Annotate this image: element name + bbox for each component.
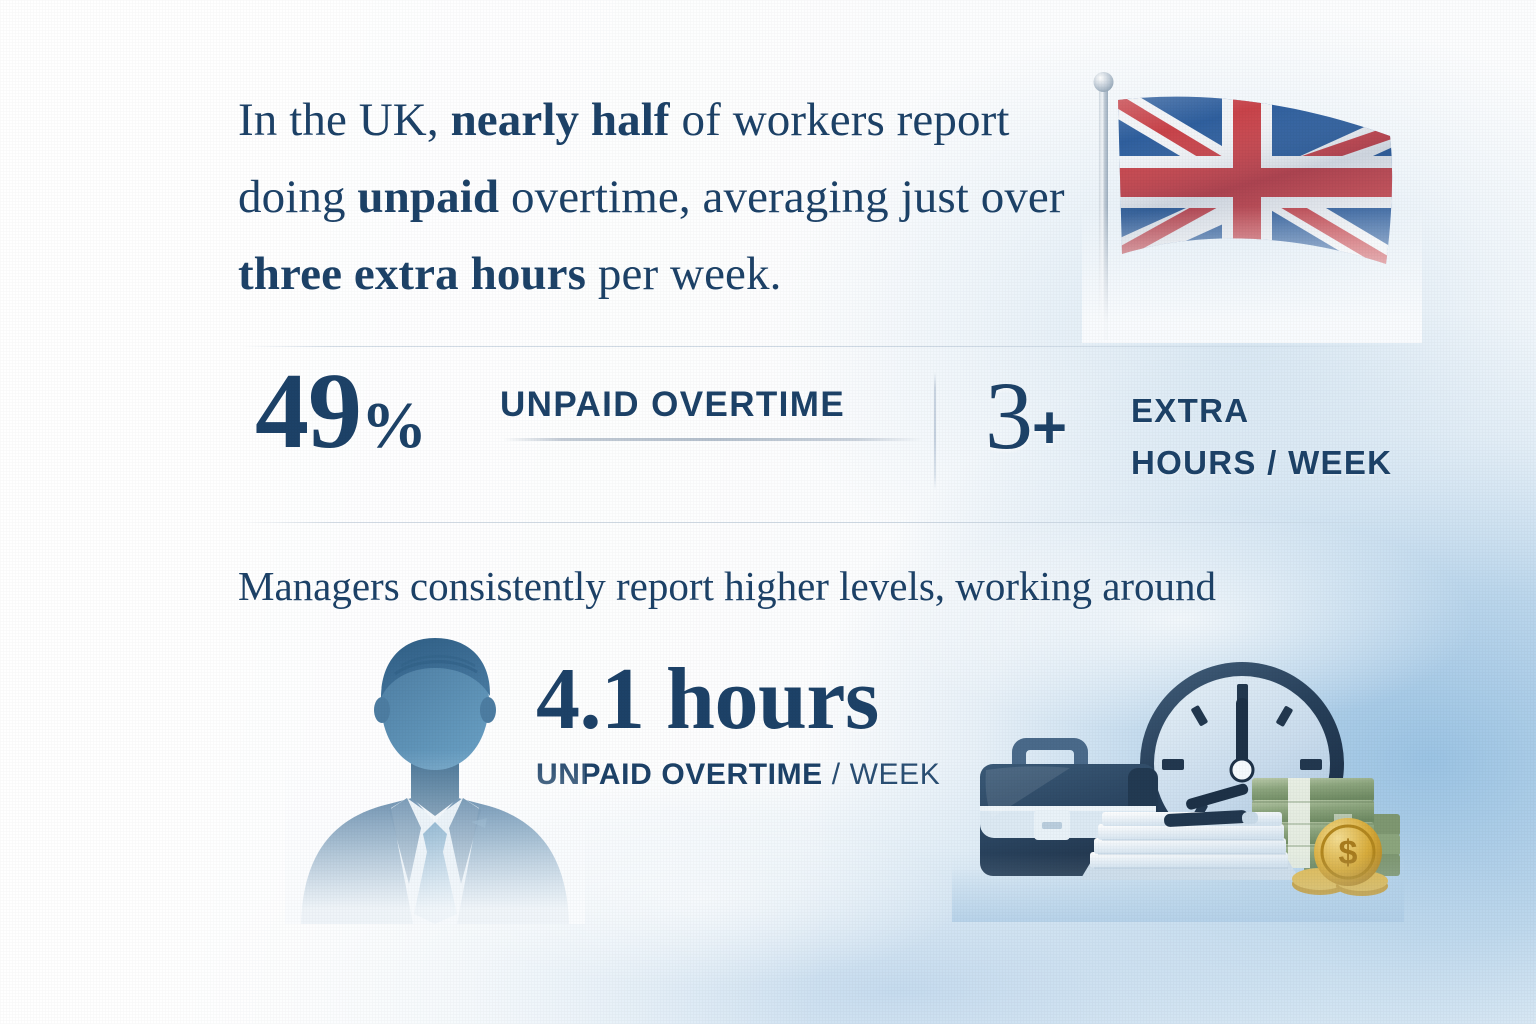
stat-left-label: UNPAID OVERTIME (500, 385, 845, 425)
headline-emphasis: three extra hours (238, 248, 586, 300)
stat-right-unit: + (1032, 394, 1066, 461)
big-stat-sublabel-light: / WEEK (823, 758, 941, 791)
stat-right-label-line2: HOURS / WEEK (1131, 437, 1392, 489)
infographic-canvas: In the UK, nearly half of workers report… (0, 0, 1536, 1024)
uk-flag-icon (1082, 58, 1422, 343)
stat-left-value: 49% (255, 358, 426, 480)
stat-right-label: EXTRA HOURS / WEEK (1131, 385, 1392, 489)
stat-unpaid-overtime: 49% UNPAID OVERTIME (255, 360, 915, 500)
stats-band: 49% UNPAID OVERTIME 3+ EXTRA HOURS / WEE… (0, 360, 1536, 500)
document-stack-icon (1080, 810, 1300, 880)
stat-left-number: 49 (255, 352, 361, 471)
big-stat-sublabel: UNPAID OVERTIME / WEEK (536, 758, 966, 792)
subhead-text: Managers consistently report higher leve… (238, 555, 1418, 617)
stat-right-number: 3 (985, 362, 1032, 469)
big-stat-block: 4.1 hours UNPAID OVERTIME / WEEK (536, 652, 966, 792)
headline-emphasis: nearly half (451, 94, 670, 146)
headline-run: per week. (586, 248, 781, 300)
stat-right-label-line1: EXTRA (1131, 385, 1392, 437)
stat-right-value: 3+ (985, 368, 1066, 476)
headline-run: In the UK, (238, 94, 451, 146)
divider-rule-bottom (240, 522, 1405, 523)
stat-left-underline (503, 438, 923, 441)
headline-emphasis: unpaid (357, 171, 499, 223)
stat-extra-hours: 3+ EXTRA HOURS / WEEK (985, 360, 1425, 500)
stat-left-unit: % (361, 389, 426, 462)
work-objects-illustration: $ (952, 636, 1404, 922)
headline-run: overtime, averaging just over (499, 171, 1065, 223)
big-stat-value: 4.1 hours (536, 652, 966, 748)
businessman-silhouette-icon (285, 622, 585, 924)
stats-vertical-divider (934, 372, 936, 490)
headline-text: In the UK, nearly half of workers report… (238, 82, 1098, 313)
big-stat-unit: hours (666, 651, 879, 748)
svg-text:$: $ (1339, 834, 1358, 872)
divider-rule-top (240, 346, 1405, 347)
